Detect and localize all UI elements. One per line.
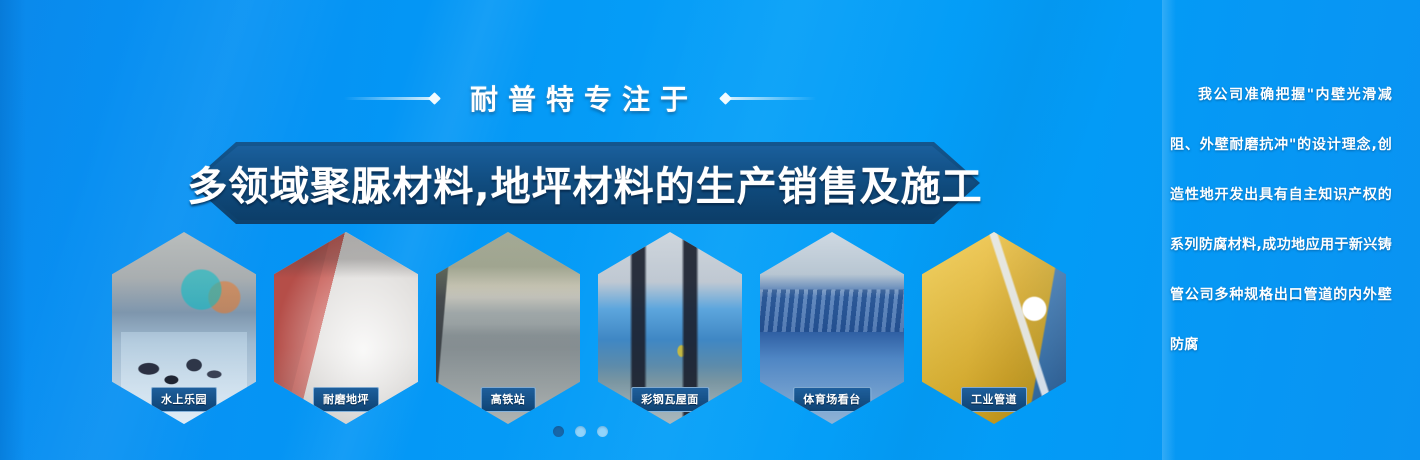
gallery-item-label: 高铁站 bbox=[481, 387, 536, 412]
hero-banner: 耐普特专注于 多领域聚脲材料,地坪材料的生产销售及施工 水上乐园 耐磨地坪 bbox=[0, 0, 1420, 460]
carousel-dot-3[interactable] bbox=[597, 426, 608, 437]
headline-plaque: 多领域聚脲材料,地坪材料的生产销售及施工 bbox=[190, 142, 980, 224]
gallery-item-label: 水上乐园 bbox=[151, 387, 217, 412]
eyebrow-text: 耐普特专注于 bbox=[462, 78, 698, 118]
gallery-item-label: 耐磨地坪 bbox=[313, 387, 379, 412]
gallery-item-label: 工业管道 bbox=[961, 387, 1027, 412]
carousel-dot-2[interactable] bbox=[575, 426, 586, 437]
banner-right-column: 我公司准确把握"内壁光滑减阻、外壁耐磨抗冲"的设计理念,创造性地开发出具有自主知… bbox=[1170, 70, 1392, 370]
decorative-rule-left-icon bbox=[344, 97, 436, 100]
gallery-item-industrial-pipeline[interactable]: 工业管道 bbox=[922, 232, 1066, 424]
gallery-item-color-steel-tile-roof[interactable]: 彩钢瓦屋面 bbox=[598, 232, 742, 424]
banner-left-column: 耐普特专注于 多领域聚脲材料,地坪材料的生产销售及施工 水上乐园 耐磨地坪 bbox=[0, 0, 1160, 460]
carousel-indicators bbox=[0, 426, 1160, 437]
diamond-dot-icon bbox=[719, 92, 732, 105]
company-description-paragraph: 我公司准确把握"内壁光滑减阻、外壁耐磨抗冲"的设计理念,创造性地开发出具有自主知… bbox=[1170, 70, 1392, 370]
page-title: 多领域聚脲材料,地坪材料的生产销售及施工 bbox=[190, 142, 980, 224]
diamond-dot-icon bbox=[428, 92, 441, 105]
gallery-item-stadium-grandstand[interactable]: 体育场看台 bbox=[760, 232, 904, 424]
decorative-rule-right-icon bbox=[724, 97, 816, 100]
gallery-item-label: 体育场看台 bbox=[793, 387, 871, 412]
carousel-dot-1[interactable] bbox=[553, 426, 564, 437]
gallery-item-water-park[interactable]: 水上乐园 bbox=[112, 232, 256, 424]
gallery-item-high-speed-rail-station[interactable]: 高铁站 bbox=[436, 232, 580, 424]
eyebrow-row: 耐普特专注于 bbox=[0, 78, 1160, 118]
hexagon-gallery: 水上乐园 耐磨地坪 高铁站 彩钢瓦屋面 体育场看台 工业管道 bbox=[112, 232, 1072, 424]
gallery-item-label: 彩钢瓦屋面 bbox=[631, 387, 709, 412]
gallery-item-wear-resistant-floor[interactable]: 耐磨地坪 bbox=[274, 232, 418, 424]
